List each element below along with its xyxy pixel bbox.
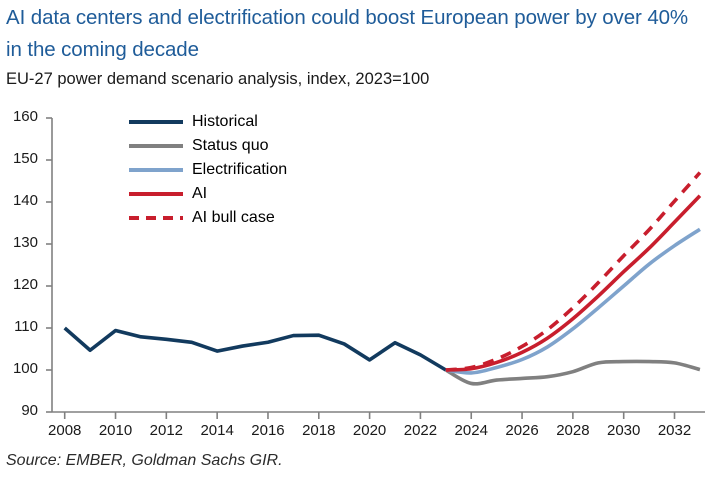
legend-label: Status quo [192, 137, 269, 155]
series-line-ai [446, 196, 700, 370]
line-chart-plot [0, 0, 711, 482]
chart-legend: HistoricalStatus quoElectrificationAIAI … [128, 110, 287, 230]
x-axis-tick-label: 2016 [245, 422, 291, 439]
chart-page: AI data centers and electrification coul… [0, 0, 711, 482]
y-axis-tick-label: 140 [4, 192, 38, 209]
legend-swatch-icon [128, 185, 184, 203]
legend-swatch-icon [128, 161, 184, 179]
x-axis-tick-label: 2030 [601, 422, 647, 439]
series-line-historical [65, 328, 446, 370]
y-axis-tick-label: 100 [4, 360, 38, 377]
source-note: Source: EMBER, Goldman Sachs GIR. [6, 452, 283, 470]
x-axis-tick-label: 2026 [499, 422, 545, 439]
y-axis-tick-label: 90 [4, 402, 38, 419]
legend-label: AI bull case [192, 209, 275, 227]
y-axis-tick-label: 150 [4, 150, 38, 167]
y-axis-tick-label: 110 [4, 318, 38, 335]
legend-item-status-quo[interactable]: Status quo [128, 134, 287, 158]
legend-label: AI [192, 185, 207, 203]
x-axis-tick-label: 2032 [652, 422, 698, 439]
x-axis-tick-label: 2014 [194, 422, 240, 439]
series-line-ai-bull-case [446, 173, 700, 370]
x-axis-tick-label: 2018 [296, 422, 342, 439]
legend-item-electrification[interactable]: Electrification [128, 158, 287, 182]
legend-swatch-icon [128, 209, 184, 227]
x-axis-tick-label: 2010 [93, 422, 139, 439]
legend-item-ai-bull-case[interactable]: AI bull case [128, 206, 287, 230]
legend-item-historical[interactable]: Historical [128, 110, 287, 134]
x-axis-tick-label: 2024 [448, 422, 494, 439]
legend-swatch-icon [128, 137, 184, 155]
legend-swatch-icon [128, 113, 184, 131]
x-axis-tick-label: 2022 [397, 422, 443, 439]
y-axis-tick-label: 130 [4, 234, 38, 251]
series-line-electrification [446, 229, 700, 373]
x-axis-tick-label: 2008 [42, 422, 88, 439]
legend-item-ai[interactable]: AI [128, 182, 287, 206]
legend-label: Electrification [192, 161, 287, 179]
x-axis-tick-label: 2020 [347, 422, 393, 439]
x-axis-tick-label: 2012 [143, 422, 189, 439]
y-axis-tick-label: 120 [4, 276, 38, 293]
legend-label: Historical [192, 113, 258, 131]
y-axis-tick-label: 160 [4, 108, 38, 125]
x-axis-tick-label: 2028 [550, 422, 596, 439]
